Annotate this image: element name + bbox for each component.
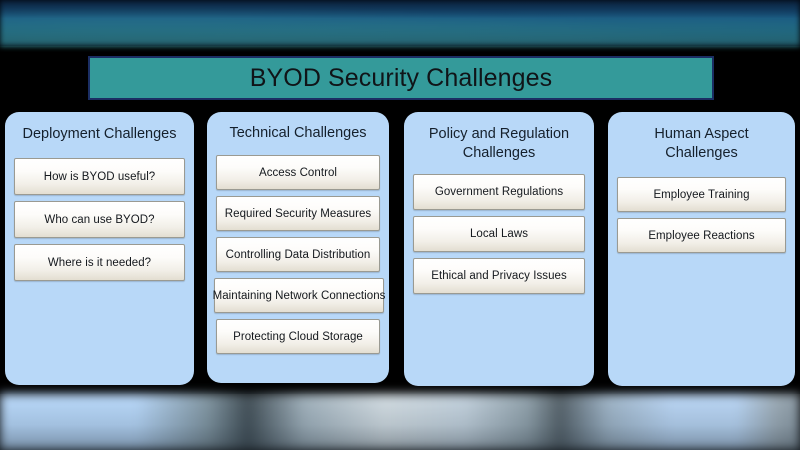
column-policy-and-regulation-challenges[interactable]: Policy and Regulation Challenges Governm… — [404, 112, 594, 386]
list-item[interactable]: Controlling Data Distribution — [216, 237, 380, 272]
item-label: Local Laws — [470, 228, 528, 240]
column-deployment-challenges[interactable]: Deployment Challenges How is BYOD useful… — [5, 112, 194, 385]
column-technical-challenges[interactable]: Technical Challenges Access Control Requ… — [207, 112, 389, 383]
list-item[interactable]: Protecting Cloud Storage — [216, 319, 380, 354]
list-item[interactable]: Required Security Measures — [216, 196, 380, 231]
item-label: Protecting Cloud Storage — [233, 331, 363, 343]
list-item[interactable]: Maintaining Network Connections — [214, 278, 384, 313]
list-item[interactable]: Local Laws — [413, 216, 585, 252]
item-label: Employee Reactions — [648, 230, 754, 242]
background-band-top-overlay — [0, 0, 800, 46]
column-title: Deployment Challenges — [14, 125, 185, 144]
item-label: Access Control — [259, 167, 337, 179]
item-label: Required Security Measures — [225, 208, 371, 220]
list-item[interactable]: Where is it needed? — [14, 244, 185, 281]
challenge-columns: Deployment Challenges How is BYOD useful… — [0, 112, 800, 386]
list-item[interactable]: Employee Reactions — [617, 218, 786, 253]
item-label: Who can use BYOD? — [44, 214, 154, 226]
item-label: Where is it needed? — [48, 257, 151, 269]
column-item-list: Employee Training Employee Reactions — [617, 177, 786, 253]
item-label: Maintaining Network Connections — [213, 290, 386, 302]
background-band-bottom-overlay — [0, 394, 800, 450]
list-item[interactable]: Access Control — [216, 155, 380, 190]
item-label: Ethical and Privacy Issues — [431, 270, 567, 282]
list-item[interactable]: How is BYOD useful? — [14, 158, 185, 195]
item-label: Government Regulations — [435, 186, 563, 198]
column-title: Technical Challenges — [216, 124, 380, 143]
slide-canvas: BYOD Security Challenges Deployment Chal… — [0, 0, 800, 450]
item-label: Controlling Data Distribution — [226, 249, 371, 261]
page-title: BYOD Security Challenges — [250, 64, 553, 93]
column-item-list: Access Control Required Security Measure… — [216, 155, 380, 354]
list-item[interactable]: Who can use BYOD? — [14, 201, 185, 238]
list-item[interactable]: Employee Training — [617, 177, 786, 212]
column-item-list: How is BYOD useful? Who can use BYOD? Wh… — [14, 158, 185, 281]
column-title: Human Aspect Challenges — [617, 125, 786, 163]
item-label: Employee Training — [653, 189, 749, 201]
column-item-list: Government Regulations Local Laws Ethica… — [413, 174, 585, 294]
list-item[interactable]: Government Regulations — [413, 174, 585, 210]
column-human-aspect-challenges[interactable]: Human Aspect Challenges Employee Trainin… — [608, 112, 795, 386]
column-title: Policy and Regulation Challenges — [413, 125, 585, 163]
list-item[interactable]: Ethical and Privacy Issues — [413, 258, 585, 294]
item-label: How is BYOD useful? — [44, 171, 156, 183]
slide-title-bar: BYOD Security Challenges — [88, 56, 714, 100]
